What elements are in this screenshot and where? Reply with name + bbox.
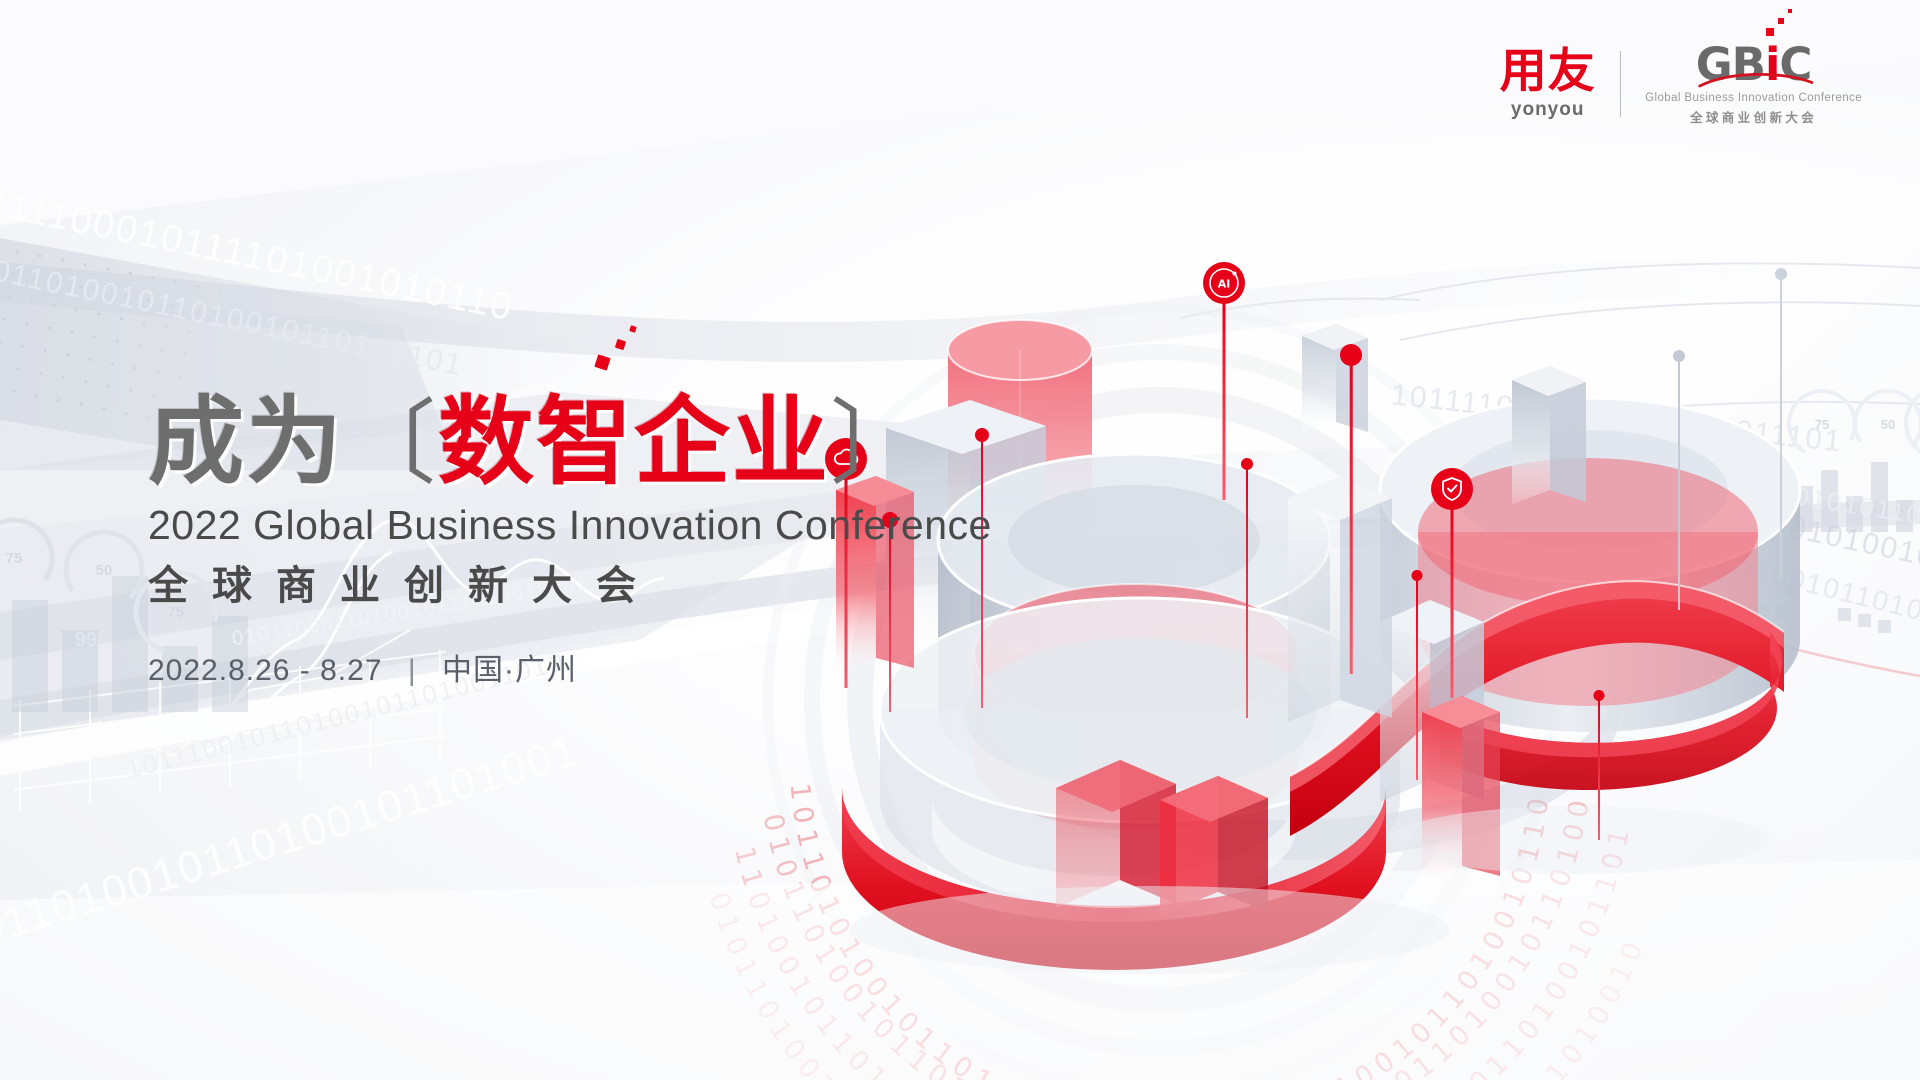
yonyou-logo[interactable]: 用友 yonyou [1500,48,1596,121]
event-date: 2022.8.26 - 8.27 [148,654,383,687]
pin-dot-5-stem [1416,580,1418,780]
pin-dot-grey-1-head [1673,350,1685,362]
event-meta: 2022.8.26 - 8.27 | 中国·广州 [148,645,992,689]
title-keyword: 数智企业 [438,394,830,490]
pin-dot-6 [1590,690,1608,840]
gbic-arc-underline [1698,68,1814,90]
gauge-left-3-value: 99 [46,600,126,680]
event-location: 中国·广州 [442,654,577,687]
yonyou-logo-cn: 用友 [1500,48,1596,95]
pin-dot-grey-2-head [1775,268,1787,280]
ai-icon: AI [1203,262,1245,304]
subtitle-english: 2022 Global Business Innovation Conferen… [148,502,992,549]
gbic-logo[interactable]: GBiC Global Business Innovation Conferen… [1645,42,1862,126]
svg-text:AI: AI [1218,278,1231,291]
gbic-tagline-en: Global Business Innovation Conference [1645,92,1862,104]
pin-dot-4 [1338,344,1364,674]
pin-dot-3 [1238,458,1256,718]
logo-lockup[interactable]: 用友 yonyou GBiC Global Business Innovatio… [1500,42,1862,126]
gauge-left-4: 63 [0,582,40,662]
pin-shield [1430,468,1474,698]
pin-dot-5 [1408,570,1426,780]
title-prefix: 成为 [148,394,344,490]
headline-block: 成为 〔 数智企业 〕 2022 Global Business Innovat… [148,372,992,689]
pin-shield-stem [1451,508,1454,698]
pin-dot-4-stem [1350,366,1353,674]
banner-canvas: 1011010100101101001011010010110100101101… [0,0,1920,1080]
title-bracket-open: 〔 [344,398,438,490]
gauge-left-4-value: 63 [0,582,40,662]
pin-dot-grey-2 [1772,268,1790,578]
pin-ai-stem [1223,302,1226,500]
pin-dot-3-head [1241,458,1253,470]
gbic-tagline-cn: 全球商业创新大会 [1690,107,1817,126]
subtitle-chinese: 全球商业创新大会 [148,553,992,611]
pin-dot-4-head [1340,344,1362,366]
pin-dot-grey-1-stem [1678,360,1680,610]
meta-separator: | [408,654,417,688]
page-title: 成为 〔 数智企业 〕 [148,372,992,490]
pin-dot-3-stem [1246,470,1248,718]
pin-dot-5-head [1412,570,1423,581]
shield-check-icon [1431,468,1473,510]
pin-dot-6-head [1594,690,1605,701]
gbic-acronym: GBiC [1696,42,1812,87]
yonyou-logo-en: yonyou [1511,99,1585,121]
logo-divider [1620,51,1622,117]
pin-dot-grey-2-stem [1780,278,1782,578]
title-bracket-close: 〕 [830,398,924,490]
pin-dot-6-stem [1598,700,1600,840]
pin-dot-grey-1 [1670,350,1688,610]
gauge-left-3: 99 [46,600,126,680]
